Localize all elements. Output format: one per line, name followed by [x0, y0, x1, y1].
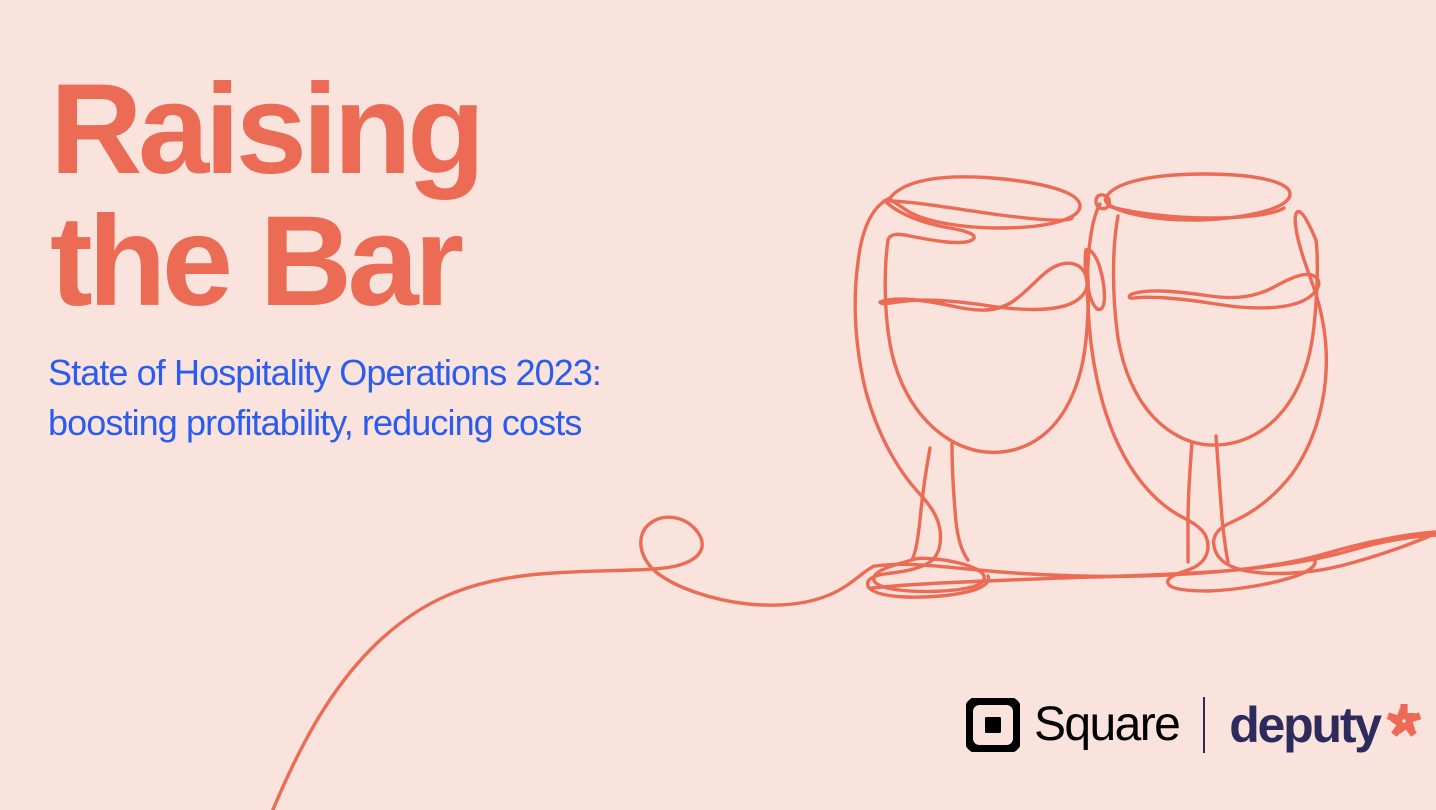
headline-line-1: Raising: [50, 64, 690, 196]
pinwheel-asterisk-icon: [1382, 699, 1426, 743]
left-glass-outer-wall: [855, 198, 988, 597]
page-title: Raising the Bar: [50, 64, 690, 328]
right-glass-tip: [1214, 212, 1436, 574]
cover-slide: Raising the Bar State of Hospitality Ope…: [0, 0, 1436, 810]
subhead-line-1: State of Hospitality Operations 2023:: [48, 348, 748, 398]
square-wordmark: Square: [1034, 700, 1179, 750]
left-glass-rim-inner-fold: [884, 201, 1072, 220]
left-glass-foot: [874, 558, 985, 591]
left-glass-rim-outer: [890, 177, 1080, 228]
table-line-lower: [872, 535, 1436, 588]
deputy-logo: deputy: [1229, 699, 1426, 751]
deputy-wordmark: deputy: [1229, 699, 1380, 751]
headline-line-2: the Bar: [50, 196, 690, 328]
square-logo: Square: [966, 698, 1179, 752]
right-glass-knot: [1096, 195, 1109, 209]
square-rounded-outline-with-inner-square-icon: [966, 698, 1020, 752]
left-glass-bowl: [885, 240, 1088, 452]
right-glass-stem-right: [1216, 436, 1228, 562]
right-glass-stem-left: [1188, 442, 1192, 562]
subhead-line-2: boosting profitability, reducing costs: [48, 398, 748, 448]
page-subtitle: State of Hospitality Operations 2023: bo…: [48, 348, 748, 448]
table-line-upper: [876, 532, 1436, 576]
left-glass-wine-line: [880, 263, 1087, 310]
logo-bar: Square deputy: [966, 694, 1426, 756]
right-glass-rim-fold: [1108, 206, 1284, 218]
left-glass-tip: [1085, 250, 1104, 310]
right-glass-rim: [1105, 174, 1290, 220]
left-glass-inner-wall: [886, 202, 974, 243]
right-glass-wine-line: [1129, 274, 1319, 307]
trailing-line-loop: [272, 517, 874, 810]
left-glass-stem-left: [912, 448, 930, 560]
logo-divider: [1203, 697, 1205, 753]
left-glass-stem-right: [952, 444, 968, 560]
right-glass-outer-wall: [1088, 204, 1316, 591]
right-glass-inner-wall: [1114, 216, 1318, 445]
